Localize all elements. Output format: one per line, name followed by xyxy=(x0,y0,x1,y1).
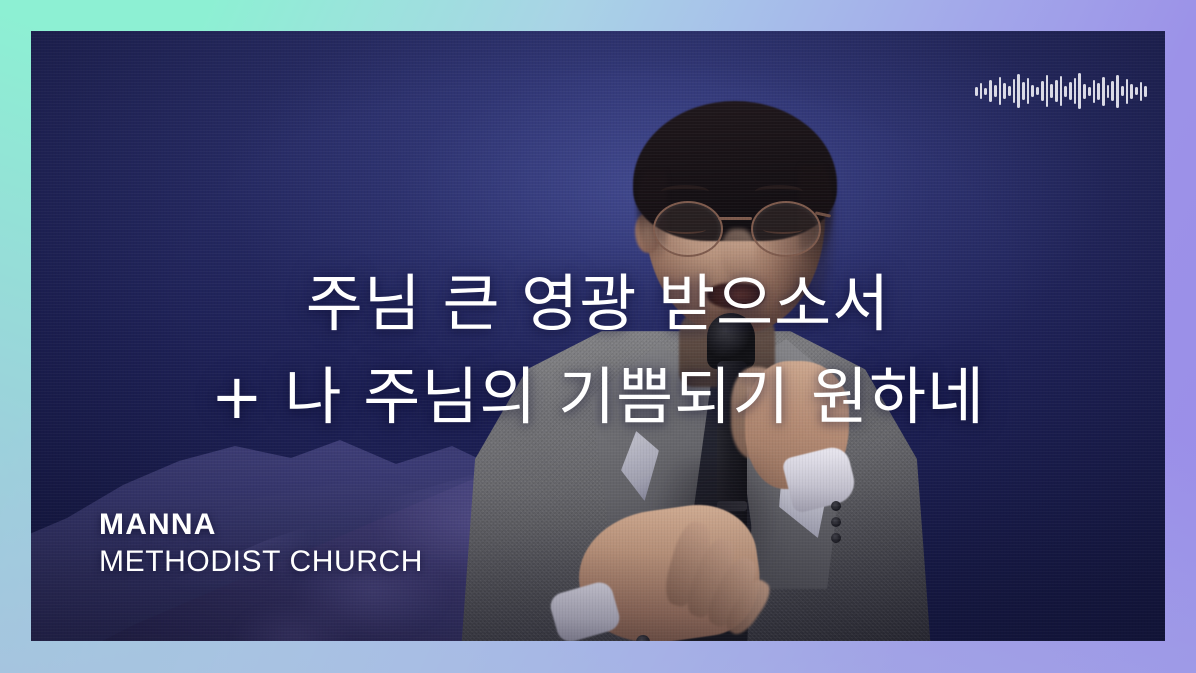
waveform-bar xyxy=(1097,83,1100,100)
waveform-bar xyxy=(1003,83,1006,99)
eyebrow-left xyxy=(661,185,709,198)
eyebrow-right xyxy=(755,185,803,198)
waveform-bar xyxy=(1078,73,1081,109)
eyeglasses xyxy=(643,199,829,257)
video-player-frame[interactable]: 주님 큰 영광 받으소서 + 나 주님의 기쁨되기 원하네 MANNA METH… xyxy=(31,31,1165,641)
wordmark-name: MANNA xyxy=(99,506,423,543)
mouth xyxy=(707,283,765,309)
waveform-bar xyxy=(1121,86,1124,96)
glasses-bridge xyxy=(718,217,752,220)
waveform-bar xyxy=(1027,78,1030,104)
waveform-bar xyxy=(1107,85,1110,98)
waveform-bar xyxy=(1088,87,1091,96)
eye-left-closed xyxy=(666,225,706,234)
waveform-bar xyxy=(1140,82,1143,101)
waveform-bar xyxy=(1050,84,1053,98)
sleeve-button xyxy=(831,533,841,543)
waveform-bar xyxy=(994,85,997,97)
waveform-bar xyxy=(1135,87,1138,95)
waveform-bar xyxy=(975,87,978,96)
waveform-bar xyxy=(1069,82,1072,100)
waveform-bar xyxy=(1060,76,1063,106)
sleeve-button xyxy=(831,517,841,527)
waveform-bar xyxy=(980,83,983,99)
waveform-bar xyxy=(1008,86,1011,96)
audio-waveform-icon xyxy=(975,71,1147,111)
waveform-bar xyxy=(1116,75,1119,108)
waveform-bar xyxy=(1041,81,1044,101)
waveform-bar xyxy=(1031,85,1034,97)
waveform-bar xyxy=(989,80,992,102)
sleeve-button xyxy=(831,501,841,511)
waveform-bar xyxy=(1130,84,1133,99)
waveform-bar xyxy=(1074,78,1077,104)
waveform-bar xyxy=(1055,80,1058,102)
slide-canvas: 주님 큰 영광 받으소서 + 나 주님의 기쁨되기 원하네 MANNA METH… xyxy=(0,0,1196,673)
waveform-bar xyxy=(1093,80,1096,103)
waveform-bar xyxy=(1064,86,1067,97)
wordmark-subtitle: METHODIST CHURCH xyxy=(99,543,423,581)
waveform-bar xyxy=(1046,75,1049,107)
waveform-bar xyxy=(999,77,1002,105)
waveform-bar xyxy=(1126,79,1129,104)
waveform-bar xyxy=(984,88,987,95)
waveform-bar xyxy=(1144,86,1147,97)
waveform-bar xyxy=(1111,81,1114,101)
eye-right-closed xyxy=(763,225,803,234)
waveform-bar xyxy=(1013,79,1016,103)
waveform-bar xyxy=(1036,87,1039,95)
waveform-bar xyxy=(1017,74,1020,108)
waveform-bar xyxy=(1022,82,1025,100)
waveform-bar xyxy=(1102,77,1105,106)
waveform-bar xyxy=(1083,84,1086,99)
church-wordmark: MANNA METHODIST CHURCH xyxy=(99,506,423,581)
